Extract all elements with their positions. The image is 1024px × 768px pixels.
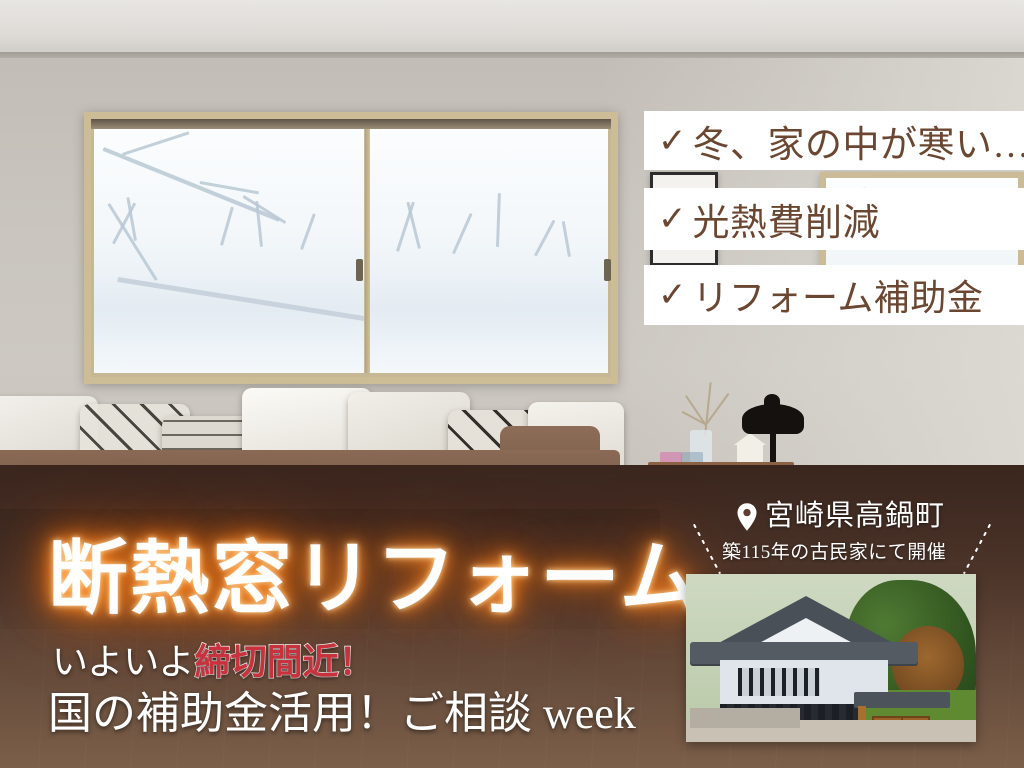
- house-gravel: [690, 708, 800, 728]
- sub-headline-1: いよいよ締切間近！: [52, 644, 375, 680]
- window-handle-left: [356, 259, 363, 281]
- venue-note: 築115年の古民家にて開催: [722, 537, 946, 564]
- window-header-rail: [91, 119, 611, 129]
- venue-location: 宮崎県高鍋町: [736, 502, 945, 531]
- feature-box-3: ✓ リフォーム補助金: [644, 265, 1024, 325]
- window-pane-right: [370, 129, 608, 373]
- sub-headline-prefix: いよいよ: [52, 642, 195, 682]
- window-handle-right: [604, 259, 611, 281]
- feature-label-3: リフォーム補助金: [693, 269, 984, 321]
- venue-house-photo: [686, 574, 976, 742]
- window-pane-left: [94, 129, 364, 373]
- snow-shrubs-right: [378, 237, 608, 317]
- house-porch-roof: [854, 692, 950, 708]
- check-mark-icon: ✓: [658, 124, 687, 158]
- feature-box-2: ✓ 光熱費削減: [644, 188, 1024, 250]
- check-mark-icon: ✓: [658, 278, 687, 312]
- feature-label-2: 光熱費削減: [693, 192, 881, 246]
- sub-headline-2: 国の補助金活用！ご相談 week: [48, 692, 636, 736]
- window-snow-view: [84, 112, 618, 384]
- house-window-slats: [738, 668, 820, 696]
- venue-place-label: 宮崎県高鍋町: [765, 502, 945, 531]
- sub-headline-emphasis: 締切間近！: [195, 642, 375, 682]
- location-pin-icon: [736, 503, 758, 531]
- main-headline: 断熱窓リフォーム: [48, 540, 702, 620]
- room-background-photo: [0, 0, 1024, 500]
- check-mark-icon: ✓: [658, 202, 687, 236]
- ceiling: [0, 0, 1024, 58]
- dried-branches: [676, 372, 736, 434]
- poster-root: ✓ 冬、家の中が寒い… ✓ 光熱費削減 ✓ リフォーム補助金 断熱窓リフォーム …: [0, 0, 1024, 768]
- feature-label-1: 冬、家の中が寒い…: [693, 114, 1024, 168]
- snow-shrubs-left: [100, 233, 360, 313]
- feature-box-1: ✓ 冬、家の中が寒い…: [644, 111, 1024, 170]
